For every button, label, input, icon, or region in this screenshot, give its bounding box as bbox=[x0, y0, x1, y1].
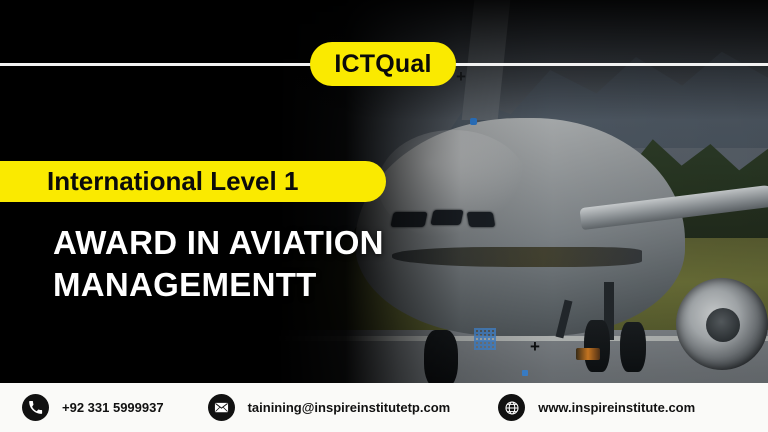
email-icon bbox=[208, 394, 235, 421]
phone-icon bbox=[22, 394, 49, 421]
headline-line-2: MANAGEMENTT bbox=[53, 264, 513, 306]
page-title: AWARD IN AVIATION MANAGEMENTT bbox=[53, 222, 513, 306]
contact-website-text: www.inspireinstitute.com bbox=[538, 400, 695, 415]
contact-website[interactable]: www.inspireinstitute.com bbox=[498, 383, 695, 432]
headline-line-1: AWARD IN AVIATION bbox=[53, 222, 513, 264]
level-badge-label: International Level 1 bbox=[47, 166, 298, 197]
globe-icon bbox=[498, 394, 525, 421]
contact-bar: +92 331 5999937 tainining@inspireinstitu… bbox=[0, 383, 768, 432]
brand-logo-badge: ICTQual bbox=[310, 42, 456, 86]
contact-email[interactable]: tainining@inspireinstitutetp.com bbox=[208, 383, 451, 432]
contact-phone[interactable]: +92 331 5999937 bbox=[22, 383, 164, 432]
contact-phone-text: +92 331 5999937 bbox=[62, 400, 164, 415]
course-promo-banner: + + ICTQual International Level 1 AWARD … bbox=[0, 0, 768, 432]
level-badge: International Level 1 bbox=[0, 161, 386, 202]
brand-logo-text: ICTQual bbox=[334, 50, 431, 79]
contact-email-text: tainining@inspireinstitutetp.com bbox=[248, 400, 451, 415]
